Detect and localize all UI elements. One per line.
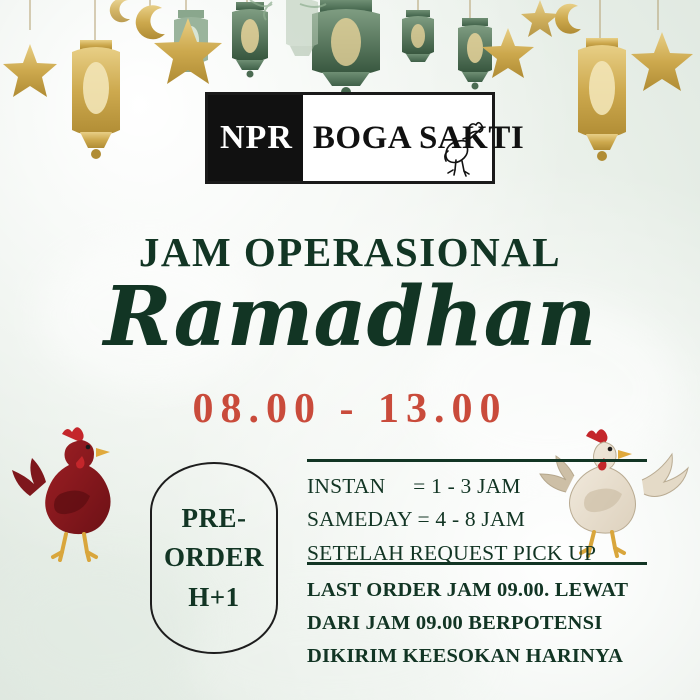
rooster-icon [442,119,488,179]
notice-line: DIKIRIM KEESOKAN HARINYA [307,640,667,673]
logo-name-text: BOGA SAKTI [303,120,524,157]
star-icon [631,32,693,91]
lantern-icon [232,2,268,78]
hen-illustration-left [8,418,168,578]
poster-canvas: NPR BOGA SAKTI JAM OPERASIONAL Ramadhan … [0,0,700,700]
service-time-item: INSTAN = 1 - 3 JAM [307,470,657,503]
notice-line: LAST ORDER JAM 09.00. LEWAT [307,574,667,607]
preorder-line-3: H+1 [188,578,239,617]
service-time-item: SAMEDAY = 4 - 8 JAM [307,503,657,536]
crescent-moon-icon [136,5,165,39]
page-subtitle-script: Ramadhan [0,272,700,362]
notice-line: DARI JAM 09.00 BERPOTENSI [307,607,667,640]
preorder-line-1: PRE- [182,499,247,538]
crescent-moon-icon [555,4,581,34]
lantern-icon [402,10,434,62]
lantern-icon [458,18,492,90]
lantern-icon [72,40,120,159]
brand-logo: NPR BOGA SAKTI [205,92,495,184]
crescent-moon-icon [110,0,130,22]
preorder-badge: PRE- ORDER H+1 [150,462,278,654]
star-icon [521,0,559,37]
lantern-icon [578,38,626,161]
divider-bottom [307,562,647,565]
lantern-icon [312,0,380,97]
star-icon [3,44,57,97]
service-times-list: INSTAN = 1 - 3 JAM SAMEDAY = 4 - 8 JAM S… [307,470,657,570]
last-order-notice: LAST ORDER JAM 09.00. LEWAT DARI JAM 09.… [307,574,667,674]
preorder-line-2: ORDER [164,538,264,577]
divider-top [307,459,647,462]
logo-mark-text: NPR [208,95,303,181]
star-icon [154,18,222,84]
